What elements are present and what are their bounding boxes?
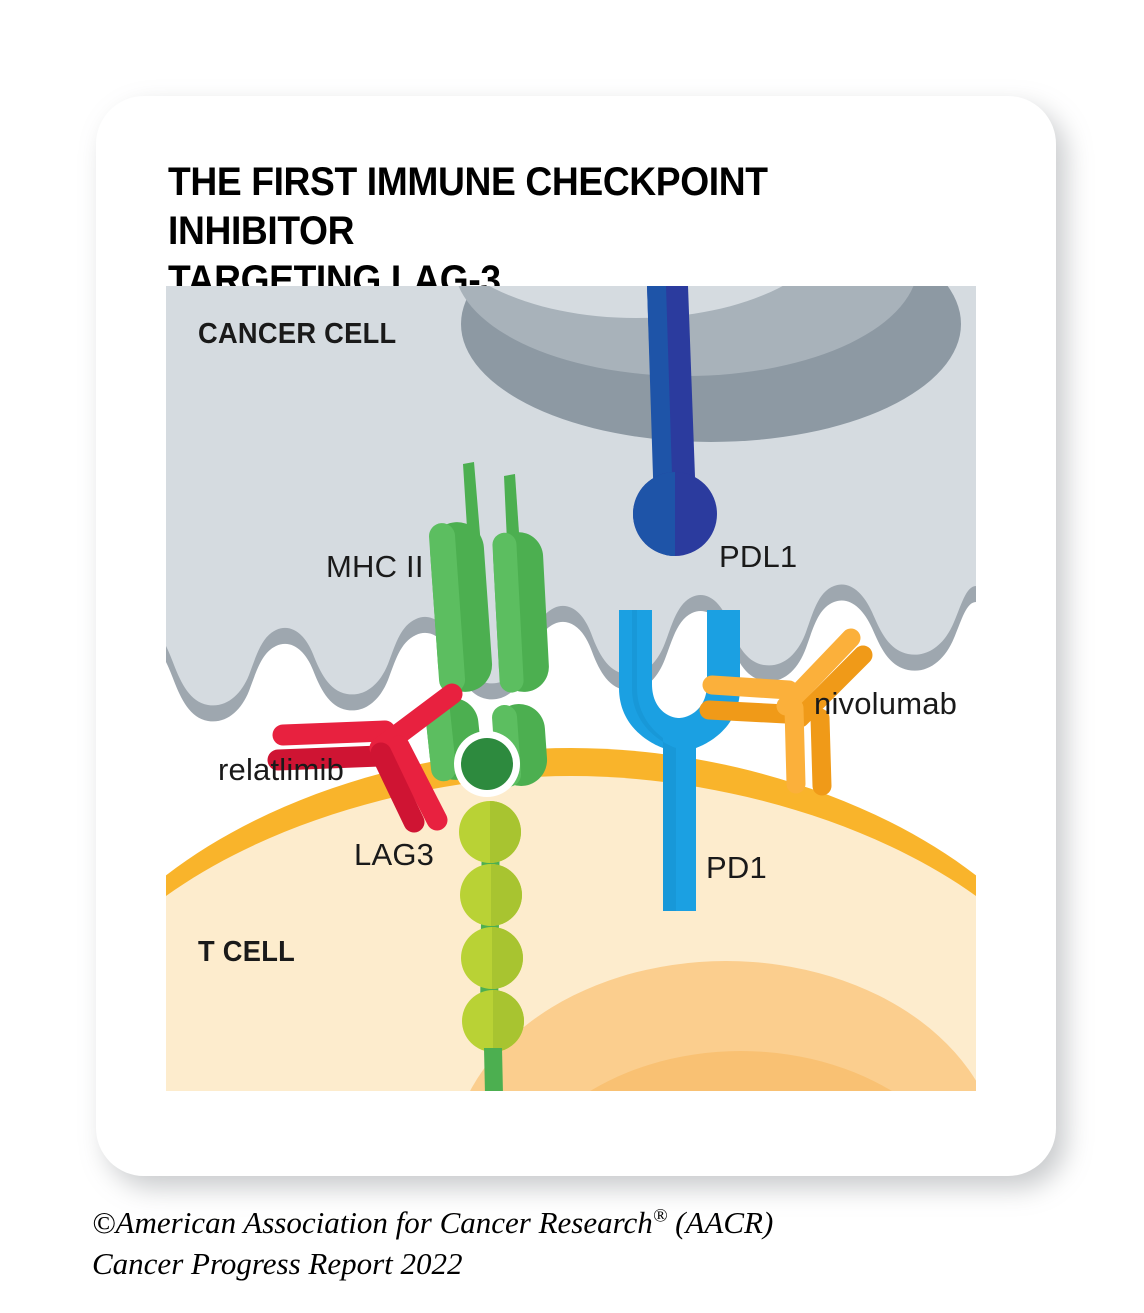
label-pdl1: PDL1 bbox=[719, 539, 797, 575]
label-t-cell: T CELL bbox=[198, 936, 295, 969]
label-relatlimib: relatlimib bbox=[218, 752, 344, 788]
figure-card: THE FIRST IMMUNE CHECKPOINT INHIBITOR TA… bbox=[96, 96, 1056, 1176]
label-lag3: LAG3 bbox=[354, 837, 434, 873]
label-cancer-cell: CANCER CELL bbox=[198, 318, 396, 351]
attribution-text-post: (AACR) bbox=[667, 1205, 773, 1240]
peptide-circle bbox=[461, 738, 513, 790]
attribution-line-2: Cancer Progress Report 2022 bbox=[92, 1243, 773, 1284]
label-pd1: PD1 bbox=[706, 850, 767, 886]
label-mhc2: MHC II bbox=[326, 549, 424, 585]
attribution-line-1: ©American Association for Cancer Researc… bbox=[92, 1202, 773, 1243]
t-cell-group bbox=[166, 748, 976, 1091]
attribution-text-pre: ©American Association for Cancer Researc… bbox=[92, 1205, 653, 1240]
registered-trademark-icon: ® bbox=[653, 1206, 668, 1227]
diagram-panel: CANCER CELL MHC II PDL1 relatlimib nivol… bbox=[166, 286, 976, 1091]
label-nivolumab: nivolumab bbox=[814, 686, 957, 722]
page-title: THE FIRST IMMUNE CHECKPOINT INHIBITOR TA… bbox=[168, 158, 940, 304]
attribution: ©American Association for Cancer Researc… bbox=[92, 1202, 773, 1284]
